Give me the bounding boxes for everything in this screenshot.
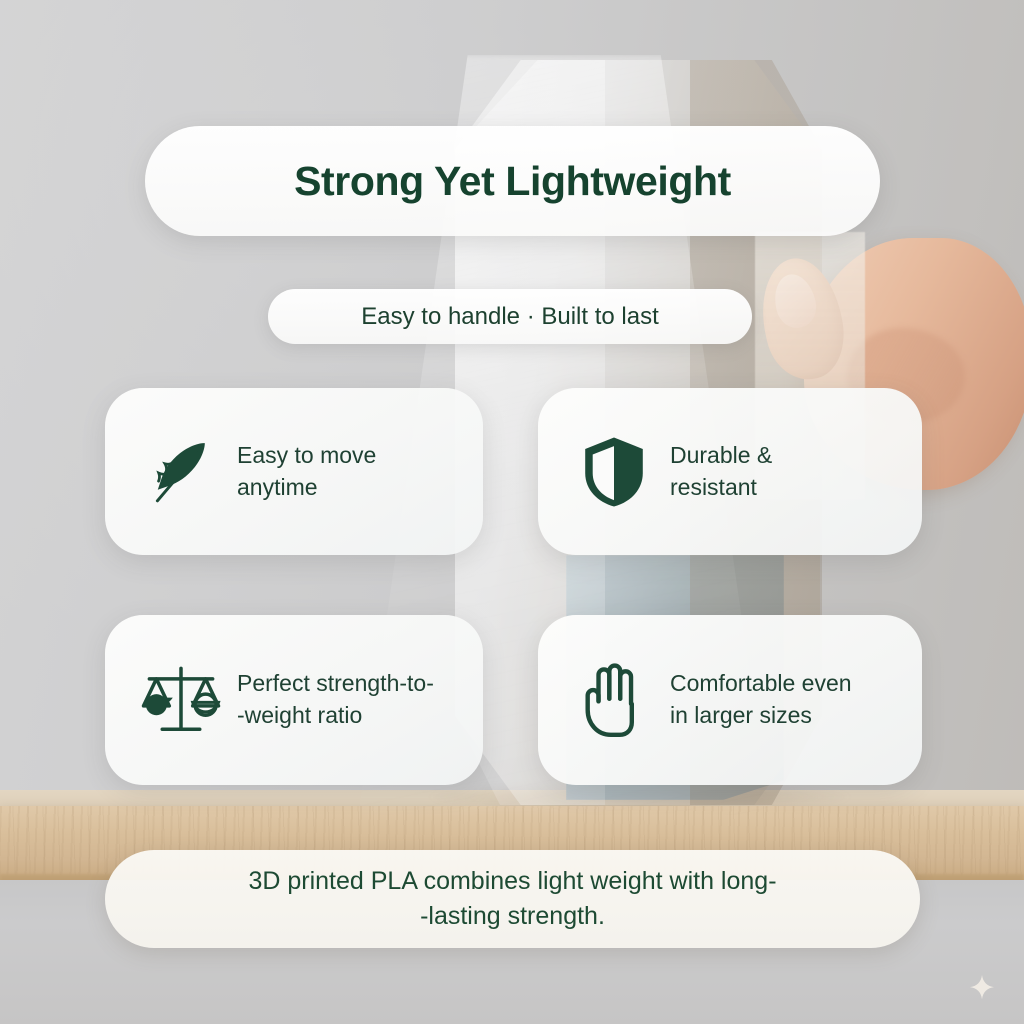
overlay-ui: Strong Yet Lightweight Easy to handle · … [0, 0, 1024, 1024]
shield-icon [572, 434, 656, 510]
scales-icon [139, 661, 223, 739]
feature-card-strength-ratio[interactable]: Perfect strength-to- -weight ratio [105, 615, 483, 785]
hand-icon [572, 660, 656, 740]
footer-text: 3D printed PLA combines light weight wit… [248, 864, 776, 935]
feature-label: Perfect strength-to- -weight ratio [237, 668, 465, 731]
sparkle-icon [968, 974, 996, 1002]
feature-card-durable[interactable]: Durable & resistant [538, 388, 922, 555]
feature-label: Durable & resistant [670, 440, 772, 503]
footer-pill: 3D printed PLA combines light weight wit… [105, 850, 920, 948]
feature-card-comfortable[interactable]: Comfortable even in larger sizes [538, 615, 922, 785]
feature-label: Easy to move anytime [237, 440, 376, 503]
feature-card-easy-to-move[interactable]: Easy to move anytime [105, 388, 483, 555]
feather-icon [139, 435, 223, 509]
feature-label: Comfortable even in larger sizes [670, 668, 904, 731]
